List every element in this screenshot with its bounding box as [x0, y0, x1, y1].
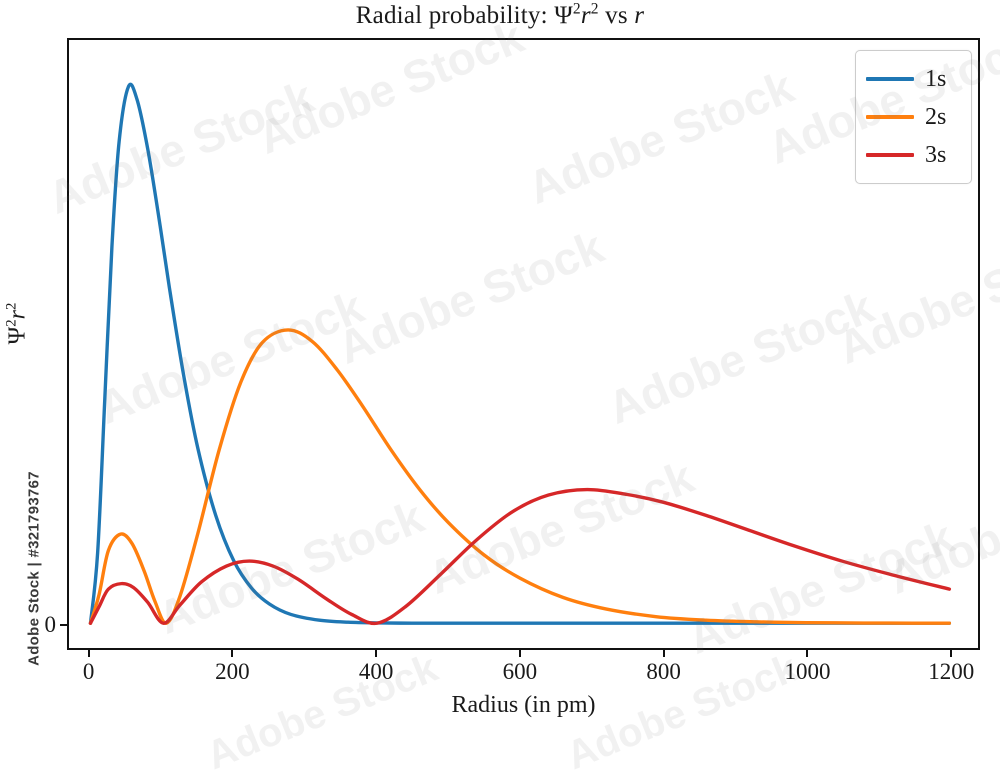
- legend-item-2s[interactable]: 2s: [866, 98, 961, 136]
- x-tick-label: 800: [646, 659, 681, 685]
- legend-swatch-3s: [866, 153, 914, 157]
- y-axis-label: Ψ2r2: [5, 294, 32, 354]
- ylabel-psi: Ψ: [5, 327, 31, 345]
- title-r-second: r: [634, 2, 644, 29]
- x-tick-mark: [806, 650, 808, 657]
- ylabel-r-exponent: 2: [4, 303, 20, 310]
- title-psi-exponent: 2: [573, 1, 581, 18]
- ylabel-psi-exponent: 2: [4, 319, 20, 326]
- ylabel-r: r: [5, 310, 31, 319]
- legend-label-1s: 1s: [925, 67, 946, 91]
- series-line-1s: [90, 84, 949, 623]
- y-tick-mark: [60, 624, 67, 626]
- chart-legend: 1s2s3s: [855, 50, 972, 184]
- x-tick-mark: [231, 650, 233, 657]
- x-tick-mark: [88, 650, 90, 657]
- series-line-3s: [90, 490, 949, 624]
- y-tick-label: 0: [45, 612, 57, 638]
- title-r-first: r: [581, 2, 591, 29]
- x-tick-mark: [519, 650, 521, 657]
- x-tick-label: 1000: [784, 659, 830, 685]
- title-psi: Ψ: [554, 2, 573, 29]
- chart-figure: Radial probability: Ψ2r2 vs r 0200400600…: [0, 0, 1000, 730]
- legend-item-1s[interactable]: 1s: [866, 60, 961, 98]
- title-r-exponent: 2: [591, 1, 599, 18]
- watermark-side-text: Adobe Stock | #321793767: [26, 449, 43, 689]
- curves-layer: [69, 40, 978, 648]
- x-tick-label: 200: [215, 659, 250, 685]
- legend-label-3s: 3s: [925, 143, 946, 167]
- chart-title: Radial probability: Ψ2r2 vs r: [0, 2, 1000, 30]
- x-axis-label: Radius (in pm): [67, 692, 980, 719]
- legend-label-2s: 2s: [925, 105, 946, 129]
- x-tick-label: 0: [83, 659, 95, 685]
- series-line-2s: [90, 330, 949, 623]
- x-tick-mark: [950, 650, 952, 657]
- x-tick-label: 600: [503, 659, 538, 685]
- x-tick-mark: [663, 650, 665, 657]
- title-prefix: Radial probability:: [356, 2, 554, 29]
- legend-item-3s[interactable]: 3s: [866, 136, 961, 174]
- x-tick-label: 1200: [928, 659, 974, 685]
- x-tick-label: 400: [359, 659, 394, 685]
- title-vs: vs: [599, 2, 635, 29]
- plot-area: [67, 38, 980, 650]
- x-tick-mark: [375, 650, 377, 657]
- legend-swatch-2s: [866, 115, 914, 119]
- legend-swatch-1s: [866, 77, 914, 81]
